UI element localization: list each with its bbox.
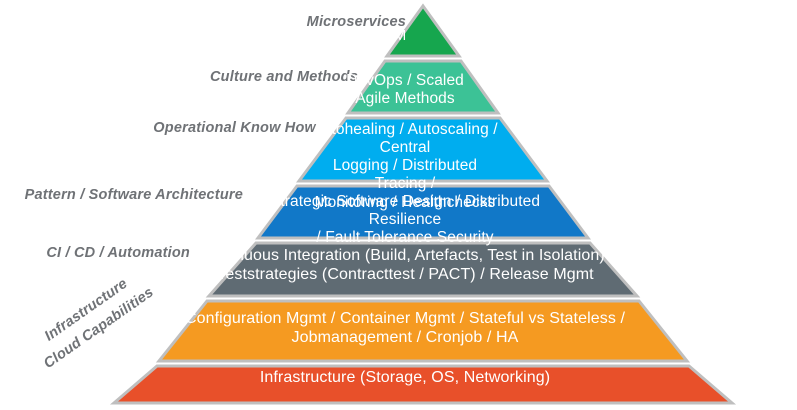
side-label-microservices: Microservices [246,14,406,30]
pyramid-diagram: Microservices Culture and Methods Operat… [0,0,797,410]
side-label-operational-know-how: Operational Know How [100,120,316,136]
side-label-culture-and-methods: Culture and Methods [158,69,358,85]
pyramid-shapes [0,0,797,410]
side-label-ci-cd-automation: CI / CD / Automation [0,245,190,261]
tier-4-shape[interactable] [258,186,588,238]
tier-3-shape[interactable] [299,118,547,181]
tier-5-shape[interactable] [209,243,637,296]
tier-2-shape[interactable] [348,61,498,113]
side-label-pattern-software-architecture: Pattern / Software Architecture [0,187,243,203]
tier-6-shape[interactable] [159,301,687,361]
tier-7-shape[interactable] [114,366,732,403]
